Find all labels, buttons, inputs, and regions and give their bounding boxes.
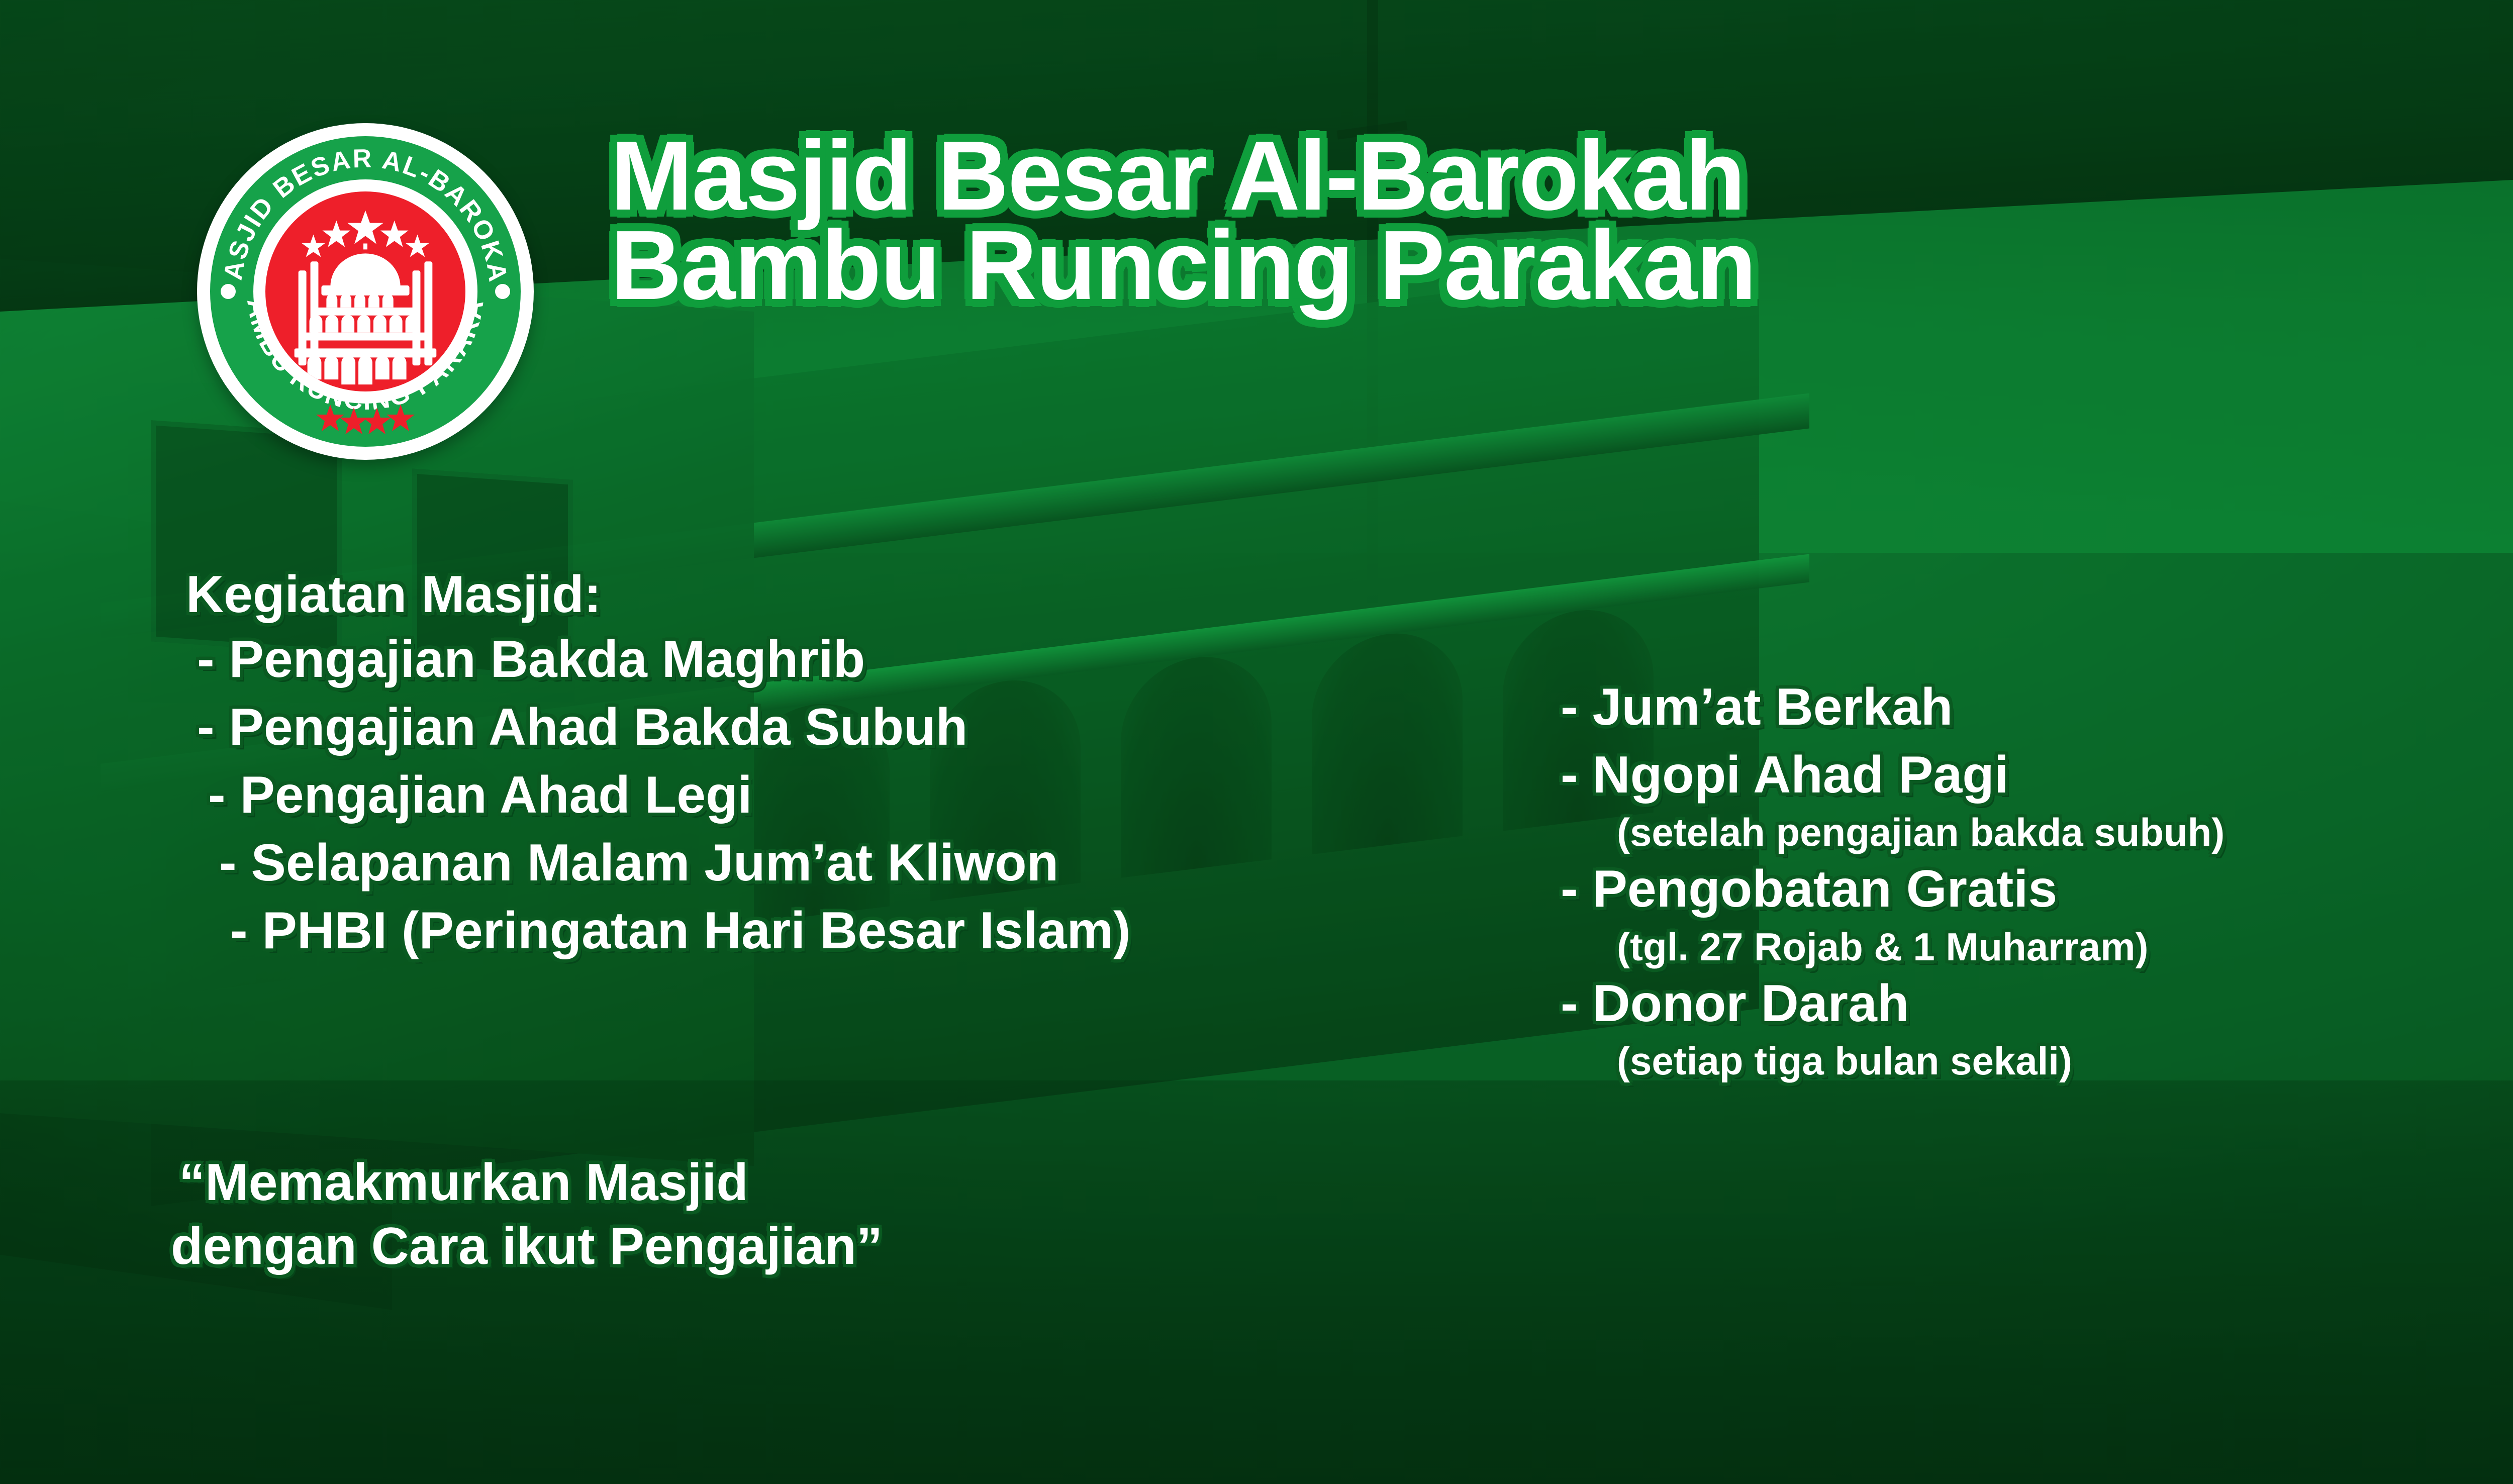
motto-quote: “Memakmurkan Masjid dengan Cara ikut Pen… <box>171 1151 1478 1278</box>
activity-item-3: - Pengajian Ahad Legi <box>208 761 1573 829</box>
title-line-2: Bambu Runcing Parakan <box>611 215 2513 316</box>
activities-left-column: Kegiatan Masjid: - Pengajian Bakda Maghr… <box>186 564 1573 965</box>
activity-item-7: - Ngopi Ahad Pagi <box>1561 741 2513 809</box>
activity-item-7-note: (setelah pengajian bakda subuh) <box>1617 809 2513 855</box>
activity-item-8: - Pengobatan Gratis <box>1561 855 2513 923</box>
background-shadow-lower <box>0 1080 2513 1484</box>
quote-line-2: dengan Cara ikut Pengajian” <box>171 1215 1478 1278</box>
activity-item-8-note: (tgl. 27 Rojab & 1 Muharram) <box>1617 924 2513 970</box>
activity-item-6: - Jum’at Berkah <box>1561 673 2513 741</box>
activity-item-1: - Pengajian Bakda Maghrib <box>197 626 1573 694</box>
activity-item-4: - Selapanan Malam Jum’at Kliwon <box>219 829 1573 897</box>
activities-right-column: - Jum’at Berkah - Ngopi Ahad Pagi (setel… <box>1561 673 2513 1084</box>
activity-item-9: - Donor Darah <box>1561 970 2513 1038</box>
logo-dot-right <box>495 284 510 299</box>
activities-heading: Kegiatan Masjid: <box>186 564 1573 626</box>
activity-item-9-note: (setiap tiga bulan sekali) <box>1617 1038 2513 1084</box>
banner-title: Masjid Besar Al-Barokah Bambu Runcing Pa… <box>611 126 2513 316</box>
mosque-logo: MASJID BESAR AL-BAROKAH BAMBU RUNCING PA… <box>197 123 534 460</box>
activity-item-2: - Pengajian Ahad Bakda Subuh <box>197 694 1573 761</box>
logo-red-disc <box>265 191 465 391</box>
masjid-banner: MASJID BESAR AL-BAROKAH BAMBU RUNCING PA… <box>0 0 2513 1484</box>
logo-dot-left <box>221 284 236 299</box>
mosque-emblem-icon <box>265 191 465 391</box>
quote-line-1: “Memakmurkan Masjid <box>179 1151 1478 1215</box>
activity-item-5: - PHBI (Peringatan Hari Besar Islam) <box>230 897 1573 965</box>
